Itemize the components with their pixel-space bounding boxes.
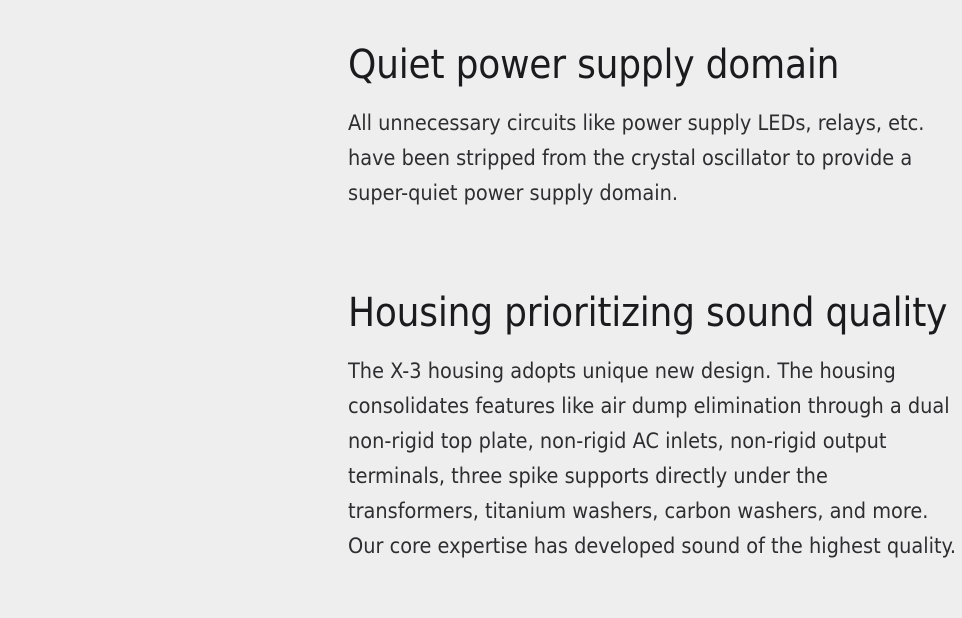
section-body-quiet-power-supply-domain: All unnecessary circuits like power supp… [348, 92, 962, 211]
feature-section-quiet-power-supply-domain: Quiet power supply domain All unnecessar… [348, 38, 962, 211]
section-heading-quiet-power-supply-domain: Quiet power supply domain [348, 38, 962, 92]
feature-section-housing-prioritizing-sound-quality: Housing prioritizing sound quality The X… [348, 286, 962, 564]
section-heading-housing-prioritizing-sound-quality: Housing prioritizing sound quality [348, 286, 962, 340]
section-body-housing-prioritizing-sound-quality: The X-3 housing adopts unique new design… [348, 340, 962, 564]
product-feature-page: Quiet power supply domain All unnecessar… [0, 0, 962, 618]
